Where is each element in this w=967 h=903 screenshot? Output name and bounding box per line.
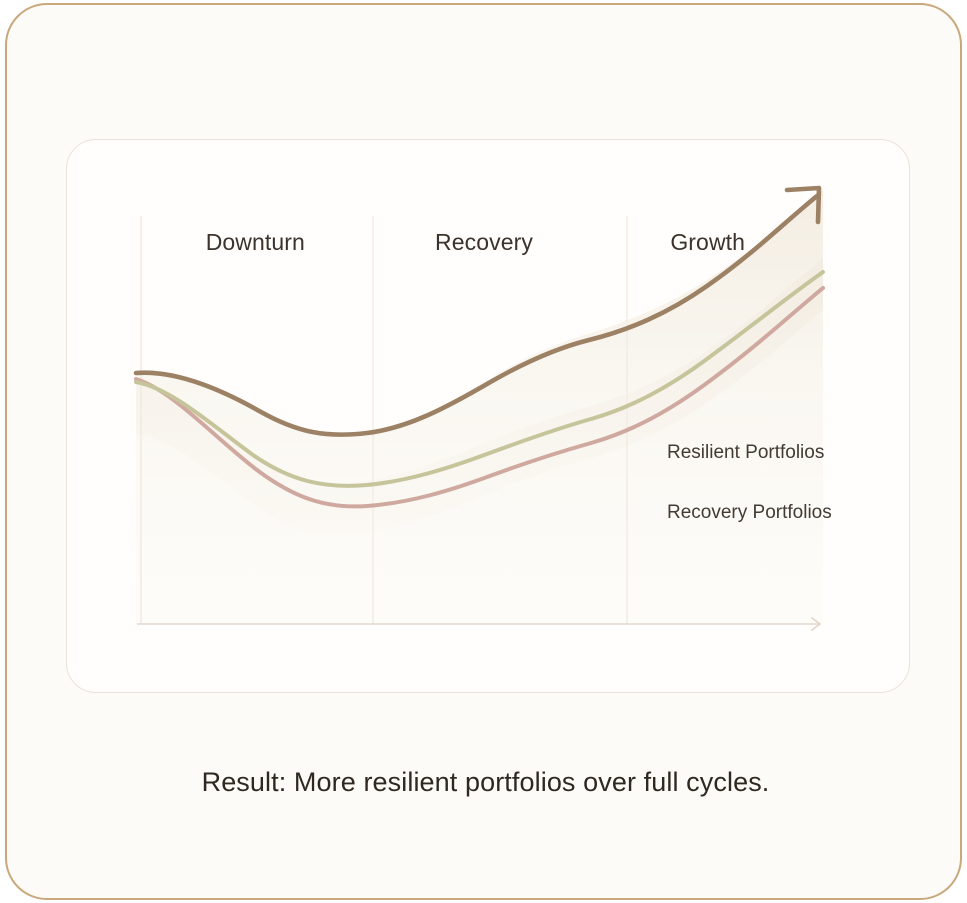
series-label-resilient-portfolios: Resilient Portfolios bbox=[667, 442, 824, 464]
series-label-recovery-portfolios: Recovery Portfolios bbox=[667, 502, 832, 524]
result-caption: Result: More resilient portfolios over f… bbox=[7, 767, 964, 798]
outer-card: Downturn Recovery Growth bbox=[5, 3, 962, 900]
chart-card: Downturn Recovery Growth bbox=[66, 139, 910, 693]
area-fill-under-curves bbox=[136, 190, 823, 624]
line-chart-plot bbox=[67, 140, 911, 694]
